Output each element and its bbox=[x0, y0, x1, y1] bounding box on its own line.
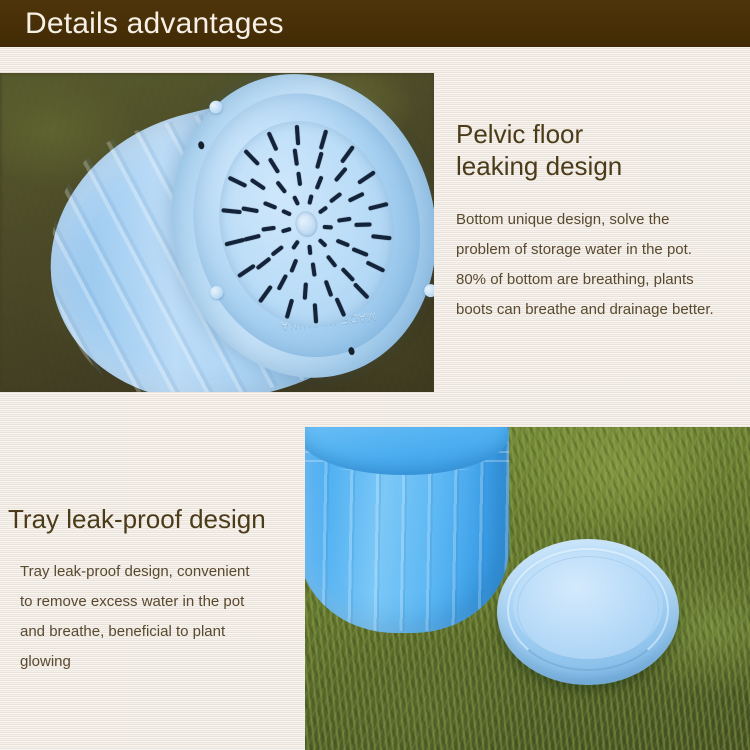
drainage-slot bbox=[221, 208, 241, 214]
drainage-slot bbox=[258, 285, 273, 304]
drainage-slot bbox=[315, 175, 324, 189]
drainage-slot bbox=[318, 205, 328, 214]
drainage-slot bbox=[295, 125, 300, 145]
drainage-slot bbox=[285, 299, 294, 319]
body-line: and breathe, beneficial to plant bbox=[20, 617, 300, 647]
drainage-slot bbox=[243, 234, 260, 242]
drainage-slot bbox=[366, 260, 386, 272]
section-header-bar: Details advantages bbox=[0, 0, 750, 47]
drainage-slot bbox=[303, 283, 308, 300]
drainage-slot bbox=[268, 157, 280, 174]
page-title: Details advantages bbox=[25, 4, 284, 44]
drainage-slot bbox=[292, 195, 300, 206]
drainage-slot bbox=[291, 240, 300, 251]
drainage-slot bbox=[307, 194, 313, 205]
drainage-slot bbox=[296, 172, 302, 186]
drainage-slot bbox=[224, 238, 244, 247]
drainage-slot bbox=[340, 145, 355, 164]
drainage-slot bbox=[315, 152, 324, 169]
flower-pot-base: MADE IN CHINA bbox=[14, 73, 434, 392]
section-heading-line: Pelvic floor bbox=[456, 118, 748, 150]
drainage-slot bbox=[228, 176, 248, 188]
drainage-slot bbox=[275, 180, 287, 193]
section-heading-line: Tray leak-proof design bbox=[8, 503, 300, 535]
drainage-slot bbox=[311, 262, 317, 276]
body-line: boots can breathe and drainage better. bbox=[456, 295, 748, 325]
drainage-slot bbox=[289, 258, 298, 272]
pot-bottom-drainage-photo: MADE IN CHINA bbox=[0, 73, 434, 392]
drainage-slot bbox=[324, 280, 334, 297]
drainage-slot bbox=[256, 257, 272, 271]
drainage-slot bbox=[357, 170, 376, 184]
drainage-slot bbox=[323, 225, 333, 230]
drainage-slot bbox=[250, 178, 266, 191]
drainage-slot bbox=[371, 234, 391, 240]
tray-inner-ring bbox=[517, 556, 659, 661]
section-tray-leak-proof-text: Tray leak-proof design Tray leak-proof d… bbox=[8, 503, 300, 677]
body-line: glowing bbox=[20, 647, 300, 677]
drainage-slot bbox=[261, 226, 275, 232]
drainage-slot bbox=[271, 245, 284, 257]
section-heading-line: leaking design bbox=[456, 150, 748, 182]
drainage-slot bbox=[348, 192, 365, 203]
drainage-slot bbox=[353, 282, 370, 299]
drainage-slot bbox=[318, 238, 328, 248]
drainage-slot bbox=[307, 245, 312, 255]
product-detail-page: Details advantages MADE IN CHINA bbox=[0, 0, 750, 750]
drainage-slot bbox=[281, 209, 292, 217]
drainage-slot bbox=[277, 274, 289, 291]
drainage-slot bbox=[281, 227, 292, 234]
section-pelvic-floor-text: Pelvic floor leaking design Bottom uniqu… bbox=[456, 118, 748, 325]
drainage-slot bbox=[336, 239, 350, 248]
body-line: problem of storage water in the pot. bbox=[456, 235, 748, 265]
saucer-tray bbox=[497, 539, 679, 685]
drainage-slot bbox=[241, 206, 258, 213]
drainage-slot bbox=[341, 267, 356, 282]
drainage-slot bbox=[263, 201, 277, 210]
drainage-slot bbox=[337, 217, 351, 223]
drainage-slot bbox=[329, 192, 342, 204]
section-body-text: Bottom unique design, solve the problem … bbox=[456, 205, 748, 325]
drainage-slot bbox=[326, 254, 338, 267]
body-line: 80% of bottom are breathing, plants bbox=[456, 265, 748, 295]
drainage-slot bbox=[334, 167, 348, 183]
drainage-slot bbox=[319, 129, 328, 149]
drainage-slot bbox=[334, 297, 346, 317]
drainage-slot bbox=[313, 303, 318, 323]
body-line: Tray leak-proof design, convenient bbox=[20, 557, 300, 587]
flower-pot-side bbox=[305, 427, 509, 633]
drainage-slot bbox=[293, 148, 299, 165]
center-boss bbox=[293, 209, 321, 240]
body-line: Bottom unique design, solve the bbox=[456, 205, 748, 235]
drainage-slot bbox=[351, 247, 368, 257]
pot-with-tray-photo bbox=[305, 427, 750, 750]
drainage-slot bbox=[267, 131, 279, 151]
drainage-slot bbox=[243, 149, 260, 166]
drainage-slot bbox=[237, 264, 256, 279]
body-line: to remove excess water in the pot bbox=[20, 587, 300, 617]
drainage-slot bbox=[354, 222, 371, 227]
drainage-slot bbox=[368, 202, 388, 211]
section-body-text: Tray leak-proof design, convenient to re… bbox=[8, 557, 300, 677]
